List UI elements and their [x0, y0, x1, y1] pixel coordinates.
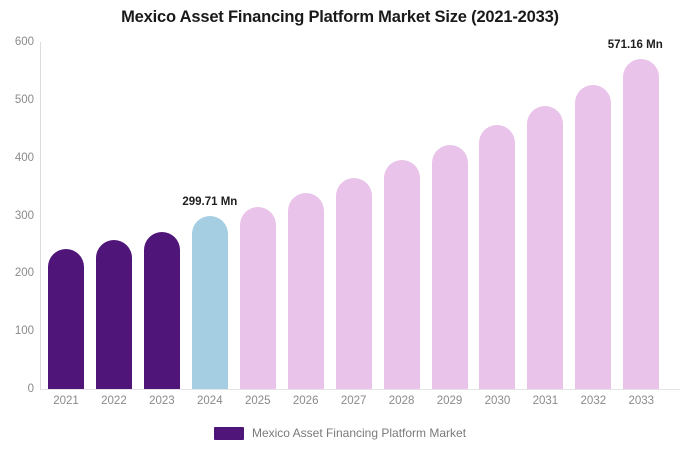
x-axis-tick-2026: 2026 [282, 395, 330, 407]
bar-2031[interactable] [527, 106, 563, 389]
y-axis-tick: 300 [0, 210, 34, 222]
bar-2033[interactable] [623, 59, 659, 389]
bar-2030[interactable] [479, 125, 515, 389]
x-axis-tick-2023: 2023 [138, 395, 186, 407]
bar-2021[interactable] [48, 249, 84, 389]
x-axis-tick-2024: 2024 [186, 395, 234, 407]
x-axis-tick-2031: 2031 [521, 395, 569, 407]
bar-2028[interactable] [384, 160, 420, 389]
bar-2027[interactable] [336, 178, 372, 389]
chart-legend: Mexico Asset Financing Platform Market [0, 426, 680, 440]
y-axis-tick: 0 [0, 383, 34, 395]
bar-2022[interactable] [96, 240, 132, 389]
y-axis-tick-labels: 0100200300400500600 [0, 42, 34, 389]
x-axis-tick-2027: 2027 [330, 395, 378, 407]
x-axis-tick-2033: 2033 [617, 395, 665, 407]
x-axis-baseline [40, 389, 680, 390]
y-axis-tick: 500 [0, 94, 34, 106]
x-axis-tick-2029: 2029 [426, 395, 474, 407]
legend-item-label: Mexico Asset Financing Platform Market [252, 426, 466, 440]
bar-value-label-2033: 571.16 Mn [608, 39, 663, 51]
legend-swatch-icon [214, 427, 244, 440]
y-axis-tick: 600 [0, 36, 34, 48]
x-axis-tick-2022: 2022 [90, 395, 138, 407]
bars-layer: 299.71 Mn571.16 Mn [40, 42, 680, 389]
bar-2029[interactable] [432, 145, 468, 389]
x-axis-tick-2021: 2021 [42, 395, 90, 407]
bar-chart: Mexico Asset Financing Platform Market S… [0, 0, 680, 450]
bar-2023[interactable] [144, 232, 180, 389]
x-axis-tick-2032: 2032 [569, 395, 617, 407]
bar-2025[interactable] [240, 207, 276, 389]
y-axis-tick: 100 [0, 325, 34, 337]
x-axis-tick-labels: 2021202220232024202520262027202820292030… [40, 395, 680, 413]
bar-2024[interactable] [192, 216, 228, 389]
chart-title: Mexico Asset Financing Platform Market S… [0, 8, 680, 27]
x-axis-tick-2028: 2028 [378, 395, 426, 407]
x-axis-tick-2030: 2030 [473, 395, 521, 407]
y-axis-tick: 200 [0, 267, 34, 279]
x-axis-tick-2025: 2025 [234, 395, 282, 407]
bar-2026[interactable] [288, 193, 324, 389]
bar-2032[interactable] [575, 85, 611, 389]
bar-value-label-2024: 299.71 Mn [182, 196, 237, 208]
y-axis-tick: 400 [0, 152, 34, 164]
